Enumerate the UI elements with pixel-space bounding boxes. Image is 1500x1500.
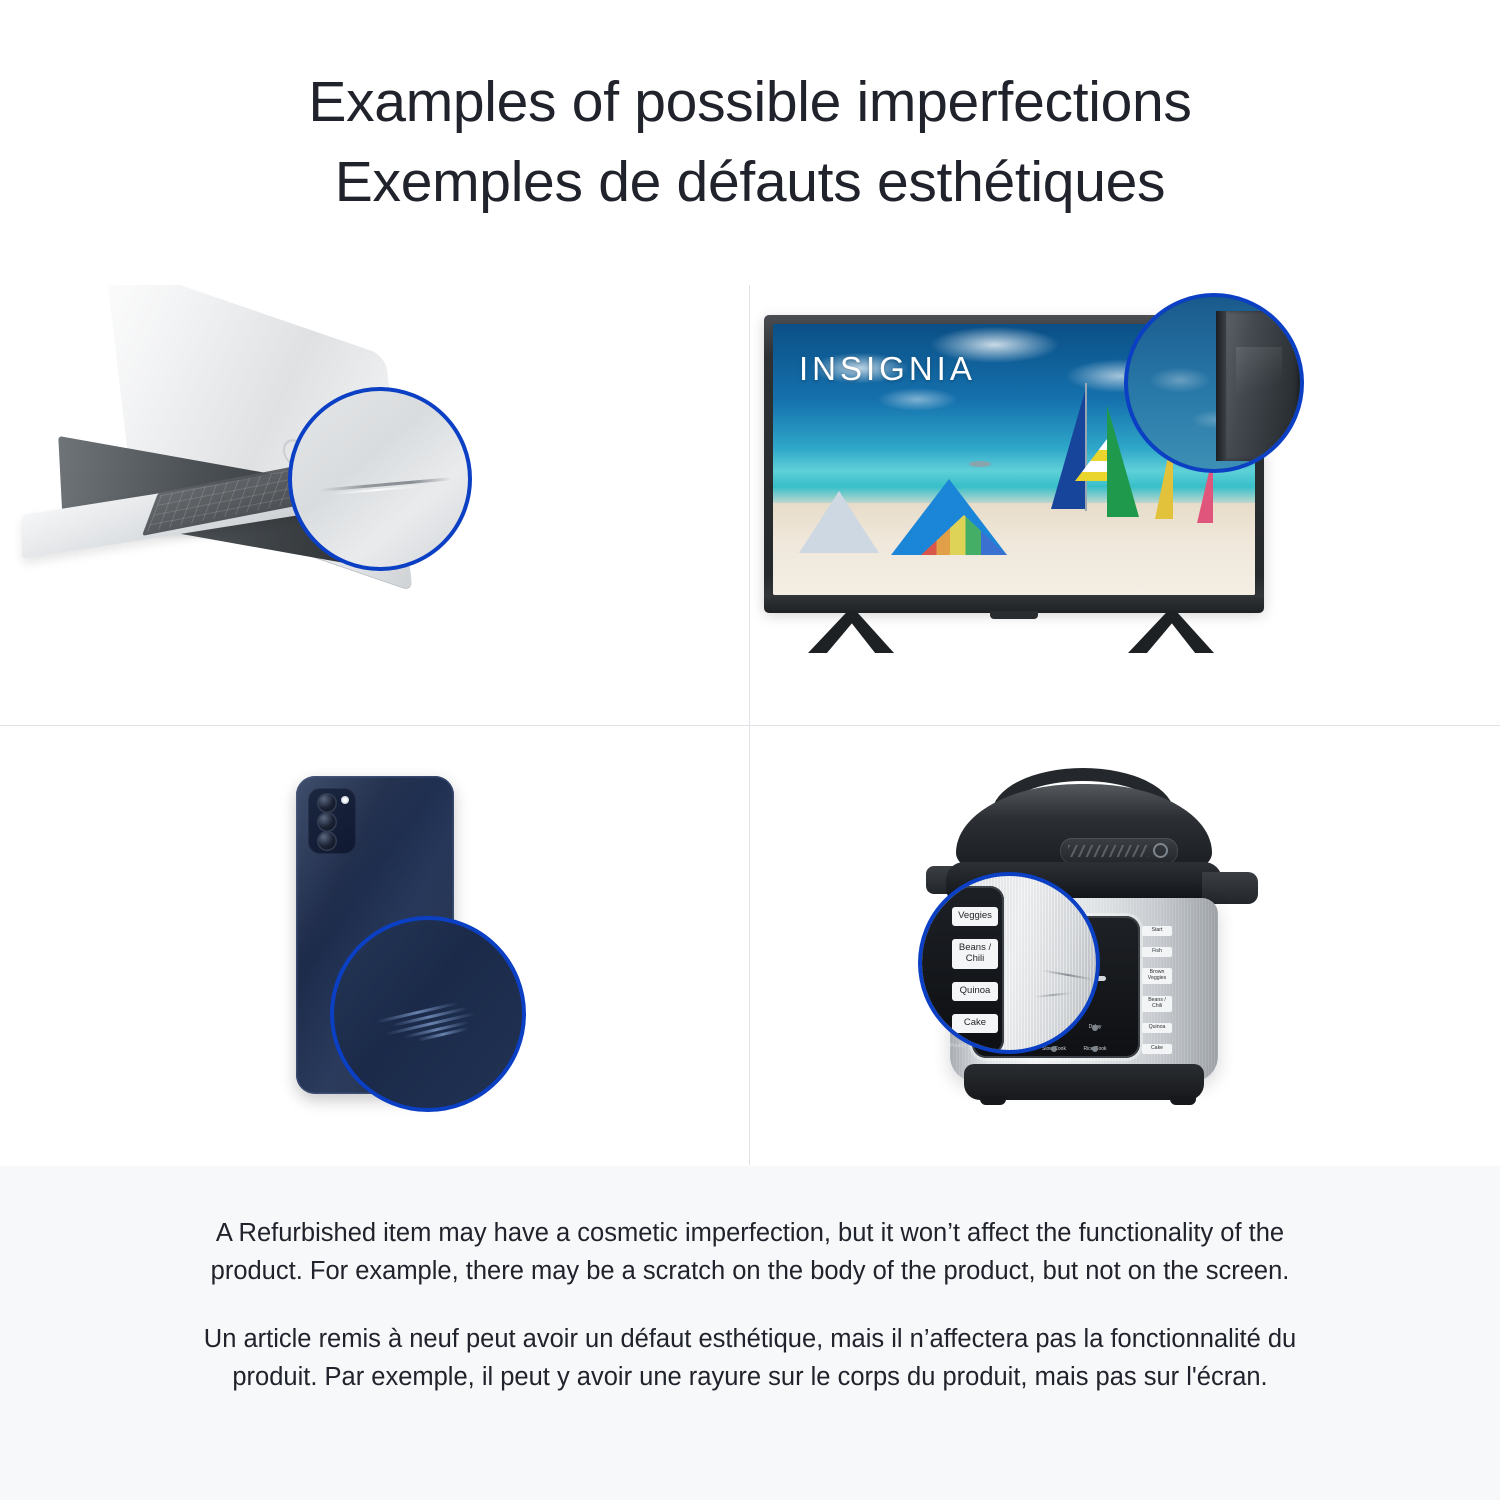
tv-screen-sail-blue [1051,391,1085,509]
description-english: A Refurbished item may have a cosmetic i… [190,1214,1310,1290]
magnifier-circle-laptop [288,387,472,571]
refurbished-imperfections-infographic: Examples of possible imperfections Exemp… [0,0,1500,1500]
cooker-handle-right [1202,872,1258,904]
magnifier-circle-pressure-cooker: Veggies Beans / Chili Quinoa Cake [918,872,1100,1054]
cooker-lid-panel [1060,838,1178,864]
tv-screen-tent-white [799,491,879,553]
camera-lens-icon [317,831,337,851]
cooker-right-button-column[interactable]: Start Fish Brown Veggies Beans / Chili Q… [1142,926,1172,1054]
cooker-foot-right [1170,1096,1196,1105]
tv-brand-wordmark: INSIGNIA [799,350,976,388]
description-french: Un article remis à neuf peut avoir un dé… [190,1320,1310,1396]
tv-foot-left [808,613,894,653]
tv-foot-right [1128,613,1214,653]
cooker-pressure-valve-icon [1153,843,1168,858]
cooker-button[interactable]: Quinoa [1142,1023,1172,1033]
phone-scratch-marks [376,994,489,1051]
camera-flash-icon [341,796,349,804]
laptop-illustration [0,285,749,725]
phone-camera-module [308,788,356,854]
smartphone-illustration [0,726,749,1166]
cooker-lid [956,784,1212,874]
cooker-button[interactable]: Fish [1142,947,1172,957]
example-cell-television: INSIGNIA [750,285,1499,725]
magnifier-circle-television [1124,293,1304,473]
title-line-french: Exemples de défauts esthétiques [0,142,1500,222]
cooker-button[interactable]: Brown Veggies [1142,968,1172,984]
tv-screen-mast [1085,383,1087,511]
cooker-button[interactable]: Start [1142,926,1172,936]
example-cell-laptop [0,285,749,725]
product-examples-grid: INSIGNIA [0,285,1500,1165]
example-cell-smartphone [0,726,749,1166]
camera-lens-icon [317,812,337,832]
cooker-magnifier-panel-edge: Veggies Beans / Chili Quinoa Cake [918,886,1004,1054]
pressure-cooker-illustration: INSIGNIA 8:00 Yogurt Rice Slow Cook Soup… [750,726,1499,1166]
cooker-button[interactable]: Cake [1142,1044,1172,1054]
tv-scuff-mark [1236,347,1282,417]
cooker-magnifier-buttons[interactable]: Veggies Beans / Chili Quinoa Cake [952,900,998,1040]
magnifier-circle-smartphone [330,916,526,1112]
title-line-english: Examples of possible imperfections [0,62,1500,142]
cooker-foot-left [980,1096,1006,1105]
cooker-button-zoomed[interactable]: Cake [952,1014,998,1033]
television-illustration: INSIGNIA [750,285,1499,725]
page-title: Examples of possible imperfections Exemp… [0,62,1500,222]
cooker-button-zoomed[interactable]: Veggies [952,907,998,926]
example-cell-pressure-cooker: INSIGNIA 8:00 Yogurt Rice Slow Cook Soup… [750,726,1499,1166]
cooker-button-zoomed[interactable]: Beans / Chili [952,939,998,969]
camera-lens-icon [317,793,337,813]
cooker-button[interactable]: Beans / Chili [1142,996,1172,1012]
cooker-lid-vents-icon [1068,845,1148,857]
tv-magnifier-bezel-corner [1226,311,1300,461]
footer-description: A Refurbished item may have a cosmetic i… [0,1166,1500,1500]
cooker-button-zoomed[interactable]: Quinoa [952,982,998,1001]
tv-screen-distant-boat [969,461,991,467]
tv-logo-bump [990,611,1038,619]
cooker-base [964,1064,1204,1100]
